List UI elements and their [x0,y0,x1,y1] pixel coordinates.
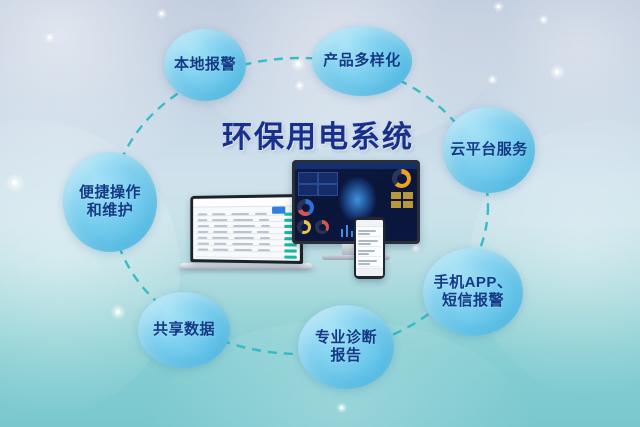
sparkle-dot [298,84,301,87]
stat-panel [318,184,338,196]
node-product-variety[interactable]: 产品多样化 [312,26,412,96]
sparkle-dot [542,18,545,21]
bar-chart-bar [346,225,348,237]
sparkle-dot [48,36,51,39]
highlight-card [403,192,413,199]
node-easy-operation[interactable]: 便捷操作 和维护 [63,152,157,252]
node-label-line1: 便捷操作 [75,184,145,202]
node-diagnostic-report[interactable]: 专业诊断 报告 [298,305,394,389]
highlight-card [403,201,413,208]
page-title: 环保用电系统 [222,112,414,156]
stat-panel [318,172,338,184]
sparkle-dot [116,310,120,314]
node-label-line2: 和维护 [75,202,145,220]
node-label: 本地报警 [170,56,240,74]
stat-panel [298,172,318,184]
node-label: 云平台服务 [446,141,532,159]
node-label-line2: 短信报警 [430,292,517,310]
smartphone [354,217,385,279]
node-cloud-service[interactable]: 云平台服务 [443,107,535,193]
sparkle-dot [160,12,163,15]
china-map-visual [339,177,376,222]
node-label: 共享数据 [149,321,219,339]
node-label-line1: 专业诊断 [311,329,381,347]
node-label: 产品多样化 [319,52,405,70]
phone-screen [356,220,383,276]
table-row [196,253,297,259]
sparkle-dot [12,180,17,185]
node-local-alarm[interactable]: 本地报警 [164,29,246,101]
highlight-card [391,201,401,208]
sparkle-dot [340,406,343,409]
sparkle-dot [497,5,500,8]
node-label-line2: 报告 [311,347,381,365]
highlight-card [391,192,401,199]
sparkle-dot [555,70,559,74]
laptop-screen [193,197,300,261]
device-group [180,160,440,310]
sparkle-dot [296,62,300,66]
bar-chart-bar [351,231,353,237]
dashboard-header [295,163,417,169]
laptop-keyboard-base [179,263,313,270]
sparkle-dot [491,78,494,81]
poster-canvas: 本地报警 产品多样化 云平台服务 手机APP、 短信报警 专业诊断 报告 共享数… [0,0,640,427]
laptop-lid [190,194,303,264]
phone-status-bar [356,220,383,227]
bar-chart-bar [341,229,343,237]
phone-tab-bar [356,268,383,276]
stat-panel [298,184,318,196]
node-label-line1: 手机APP、 [430,274,517,292]
